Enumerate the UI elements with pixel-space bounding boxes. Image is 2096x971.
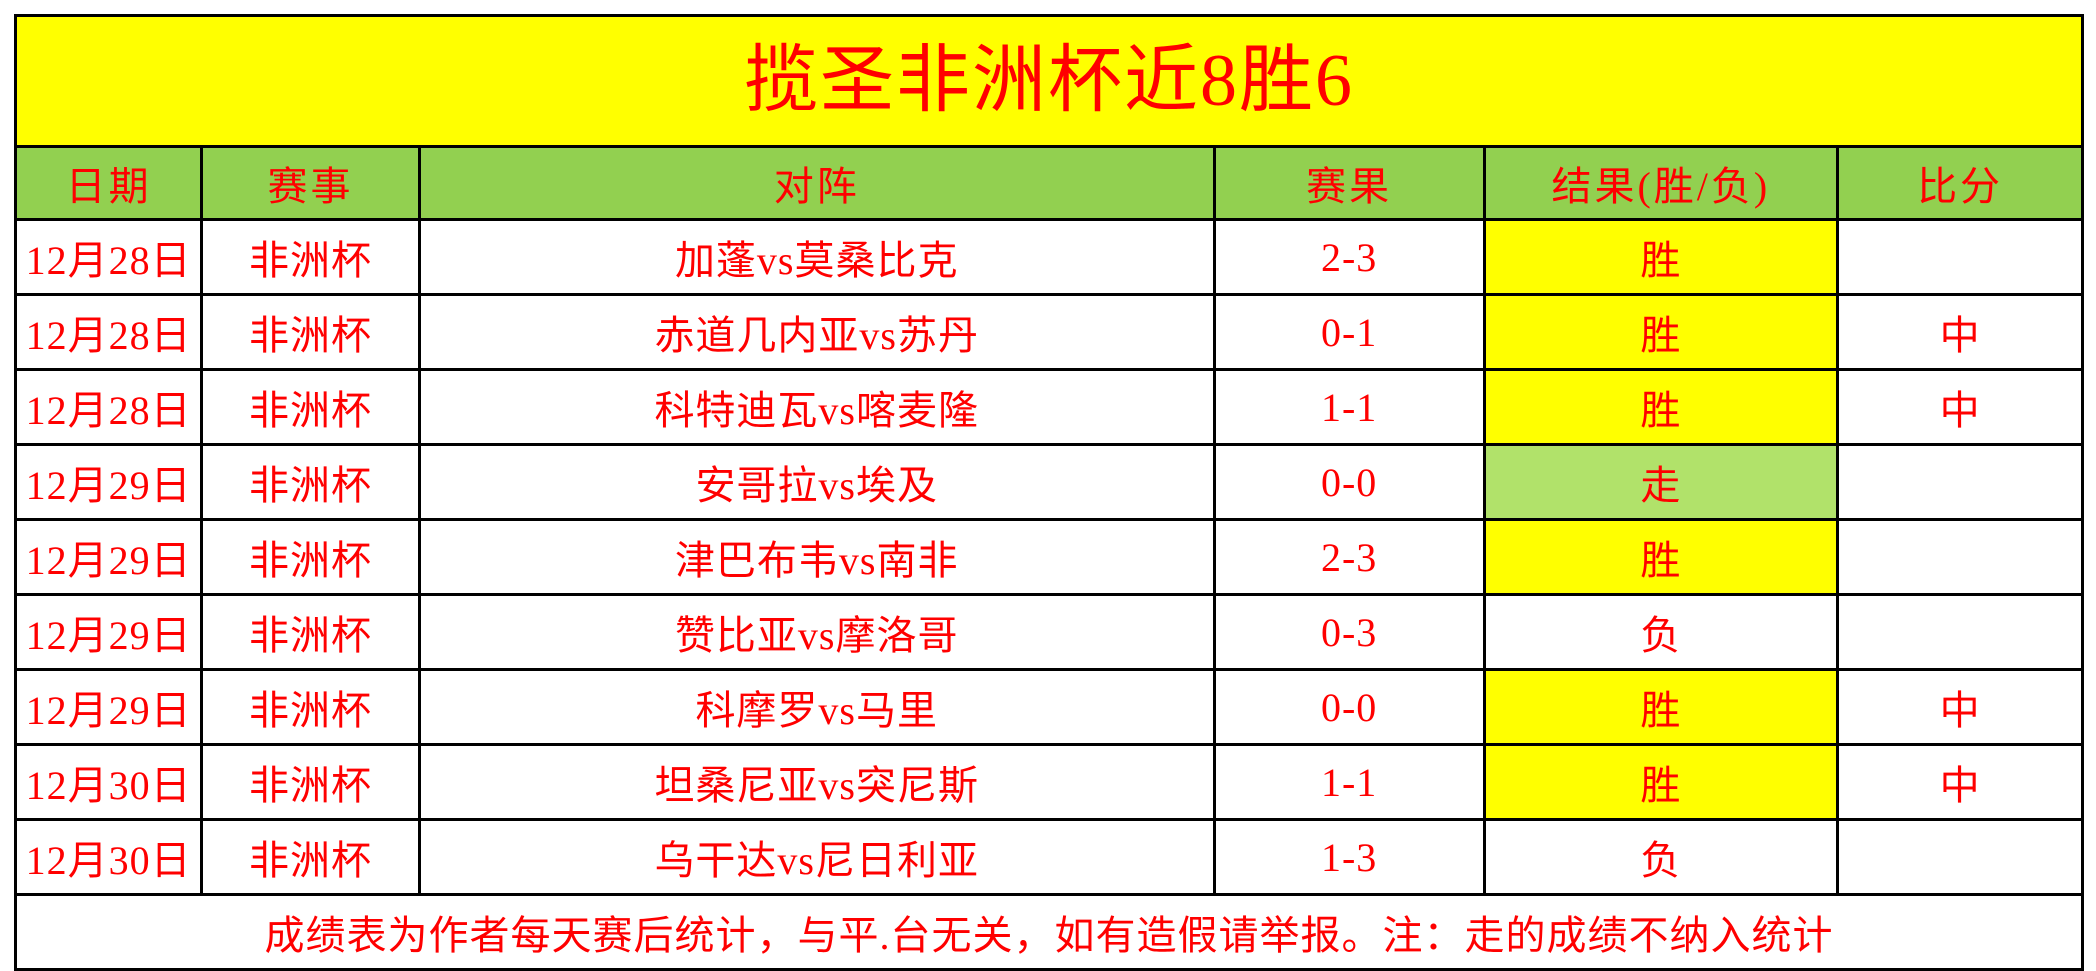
cell-score: 2-3 (1214, 520, 1484, 595)
cell-league: 非洲杯 (202, 370, 420, 445)
cell-date: 12月30日 (16, 820, 202, 895)
cell-date: 12月29日 (16, 670, 202, 745)
cell-score: 0-1 (1214, 295, 1484, 370)
table-row: 12月29日 非洲杯 津巴布韦vs南非 2-3 胜 (16, 520, 2083, 595)
cell-match: 安哥拉vs埃及 (419, 445, 1214, 520)
cell-league: 非洲杯 (202, 595, 420, 670)
cell-match: 赤道几内亚vs苏丹 (419, 295, 1214, 370)
title-row: 揽圣非洲杯近8胜6 (16, 16, 2083, 147)
cell-bi: 中 (1838, 670, 2083, 745)
column-header-match: 对阵 (419, 147, 1214, 220)
cell-score: 1-3 (1214, 820, 1484, 895)
table-row: 12月30日 非洲杯 乌干达vs尼日利亚 1-3 负 (16, 820, 2083, 895)
cell-league: 非洲杯 (202, 445, 420, 520)
cell-match: 赞比亚vs摩洛哥 (419, 595, 1214, 670)
cell-league: 非洲杯 (202, 520, 420, 595)
cell-date: 12月28日 (16, 370, 202, 445)
cell-match: 坦桑尼亚vs突尼斯 (419, 745, 1214, 820)
table-row: 12月29日 非洲杯 安哥拉vs埃及 0-0 走 (16, 445, 2083, 520)
table-row: 12月28日 非洲杯 加蓬vs莫桑比克 2-3 胜 (16, 220, 2083, 295)
cell-bi (1838, 520, 2083, 595)
cell-score: 1-1 (1214, 370, 1484, 445)
footer-note-row: 成绩表为作者每天赛后统计，与平.台无关，如有造假请举报。注：走的成绩不纳入统计 (16, 895, 2083, 970)
cell-score: 0-0 (1214, 670, 1484, 745)
cell-league: 非洲杯 (202, 220, 420, 295)
cell-result: 负 (1484, 595, 1838, 670)
cell-bi (1838, 595, 2083, 670)
cell-league: 非洲杯 (202, 745, 420, 820)
cell-bi: 中 (1838, 370, 2083, 445)
cell-league: 非洲杯 (202, 820, 420, 895)
table-body: 揽圣非洲杯近8胜6 日期 赛事 对阵 赛果 结果(胜/负) 比分 12月28日 … (16, 16, 2083, 970)
cell-result: 负 (1484, 820, 1838, 895)
cell-date: 12月29日 (16, 520, 202, 595)
cell-match: 乌干达vs尼日利亚 (419, 820, 1214, 895)
cell-date: 12月29日 (16, 445, 202, 520)
table-row: 12月29日 非洲杯 科摩罗vs马里 0-0 胜 中 (16, 670, 2083, 745)
cell-score: 2-3 (1214, 220, 1484, 295)
column-header-result: 结果(胜/负) (1484, 147, 1838, 220)
cell-bi: 中 (1838, 745, 2083, 820)
cell-bi (1838, 445, 2083, 520)
cell-bi (1838, 820, 2083, 895)
table-header-row: 日期 赛事 对阵 赛果 结果(胜/负) 比分 (16, 147, 2083, 220)
cell-result: 胜 (1484, 295, 1838, 370)
cell-result: 胜 (1484, 670, 1838, 745)
results-table: 揽圣非洲杯近8胜6 日期 赛事 对阵 赛果 结果(胜/负) 比分 12月28日 … (14, 14, 2084, 971)
cell-match: 科摩罗vs马里 (419, 670, 1214, 745)
column-header-score: 赛果 (1214, 147, 1484, 220)
cell-date: 12月29日 (16, 595, 202, 670)
cell-score: 0-3 (1214, 595, 1484, 670)
cell-score: 0-0 (1214, 445, 1484, 520)
cell-match: 科特迪瓦vs喀麦隆 (419, 370, 1214, 445)
cell-bi (1838, 220, 2083, 295)
table-row: 12月28日 非洲杯 赤道几内亚vs苏丹 0-1 胜 中 (16, 295, 2083, 370)
footer-note: 成绩表为作者每天赛后统计，与平.台无关，如有造假请举报。注：走的成绩不纳入统计 (16, 895, 2083, 970)
cell-bi: 中 (1838, 295, 2083, 370)
cell-result: 胜 (1484, 745, 1838, 820)
cell-result: 胜 (1484, 220, 1838, 295)
cell-date: 12月28日 (16, 220, 202, 295)
spreadsheet-sheet: 揽圣非洲杯近8胜6 日期 赛事 对阵 赛果 结果(胜/负) 比分 12月28日 … (0, 0, 2096, 970)
table-row: 12月28日 非洲杯 科特迪瓦vs喀麦隆 1-1 胜 中 (16, 370, 2083, 445)
cell-score: 1-1 (1214, 745, 1484, 820)
column-header-league: 赛事 (202, 147, 420, 220)
cell-result: 胜 (1484, 370, 1838, 445)
table-row: 12月30日 非洲杯 坦桑尼亚vs突尼斯 1-1 胜 中 (16, 745, 2083, 820)
table-row: 12月29日 非洲杯 赞比亚vs摩洛哥 0-3 负 (16, 595, 2083, 670)
cell-date: 12月30日 (16, 745, 202, 820)
cell-match: 津巴布韦vs南非 (419, 520, 1214, 595)
page-title: 揽圣非洲杯近8胜6 (16, 16, 2083, 147)
cell-league: 非洲杯 (202, 670, 420, 745)
cell-result: 胜 (1484, 520, 1838, 595)
column-header-date: 日期 (16, 147, 202, 220)
cell-date: 12月28日 (16, 295, 202, 370)
column-header-bi: 比分 (1838, 147, 2083, 220)
cell-match: 加蓬vs莫桑比克 (419, 220, 1214, 295)
cell-league: 非洲杯 (202, 295, 420, 370)
cell-result: 走 (1484, 445, 1838, 520)
